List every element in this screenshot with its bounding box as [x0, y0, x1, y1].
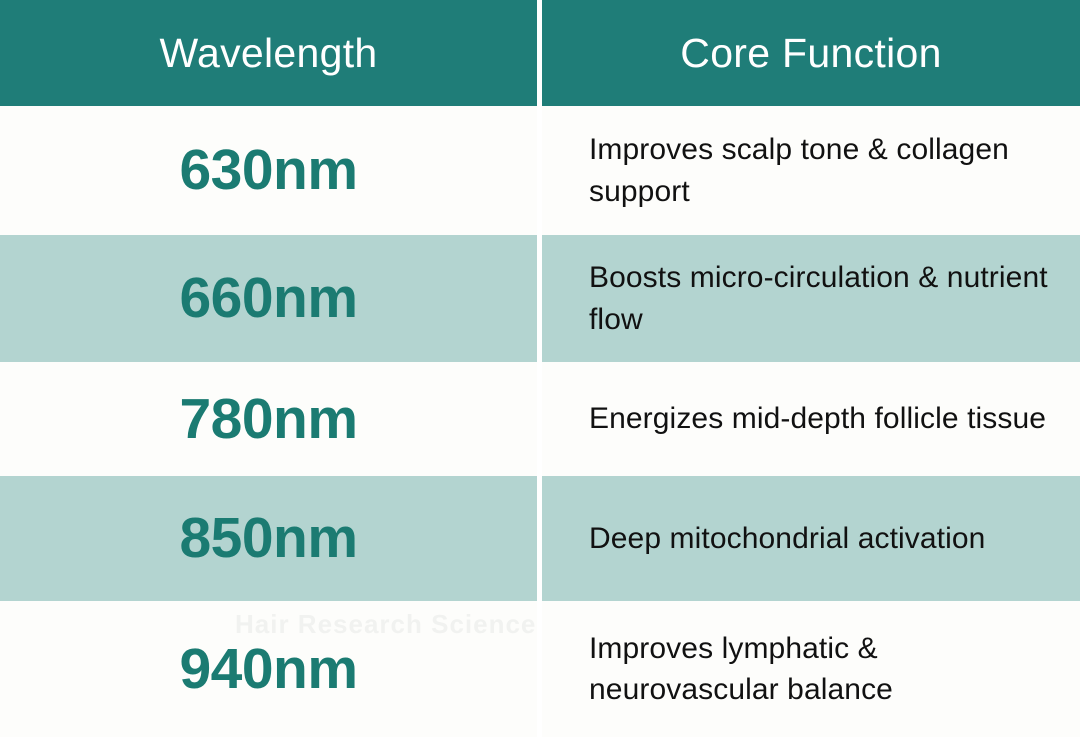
cell-core-function: Deep mitochondrial activation	[542, 476, 1080, 601]
cell-core-function: Improves scalp tone & collagen support	[542, 106, 1080, 235]
header-cell-core-function: Core Function	[542, 0, 1080, 106]
wavelength-value: 780nm	[179, 391, 357, 448]
table-row: 630nm Improves scalp tone & collagen sup…	[0, 106, 1080, 235]
table-row: 850nm Deep mitochondrial activation	[0, 476, 1080, 601]
wavelength-value: 940nm	[179, 641, 357, 698]
core-function-value: Deep mitochondrial activation	[589, 518, 985, 559]
cell-wavelength: 630nm	[0, 106, 537, 235]
table-header-row: Wavelength Core Function	[0, 0, 1080, 106]
cell-wavelength: 940nm	[0, 601, 537, 737]
table-row: 940nm Improves lymphatic & neurovascular…	[0, 601, 1080, 737]
cell-core-function: Improves lymphatic & neurovascular balan…	[542, 601, 1080, 737]
header-label-core-function: Core Function	[680, 33, 941, 74]
cell-core-function: Energizes mid-depth follicle tissue	[542, 362, 1080, 476]
wavelength-core-function-table: Wavelength Core Function 630nm Improves …	[0, 0, 1080, 737]
core-function-value: Boosts micro-circulation & nutrient flow	[589, 257, 1058, 340]
header-label-wavelength: Wavelength	[160, 33, 378, 74]
core-function-value: Improves lymphatic & neurovascular balan…	[589, 628, 1058, 711]
wavelength-value: 630nm	[179, 142, 357, 199]
cell-wavelength: 850nm	[0, 476, 537, 601]
table-row: 660nm Boosts micro-circulation & nutrien…	[0, 235, 1080, 362]
core-function-value: Improves scalp tone & collagen support	[589, 129, 1058, 212]
wavelength-value: 850nm	[179, 510, 357, 567]
cell-core-function: Boosts micro-circulation & nutrient flow	[542, 235, 1080, 362]
header-cell-wavelength: Wavelength	[0, 0, 537, 106]
core-function-value: Energizes mid-depth follicle tissue	[589, 398, 1046, 439]
table-row: 780nm Energizes mid-depth follicle tissu…	[0, 362, 1080, 476]
cell-wavelength: 780nm	[0, 362, 537, 476]
wavelength-value: 660nm	[179, 270, 357, 327]
cell-wavelength: 660nm	[0, 235, 537, 362]
